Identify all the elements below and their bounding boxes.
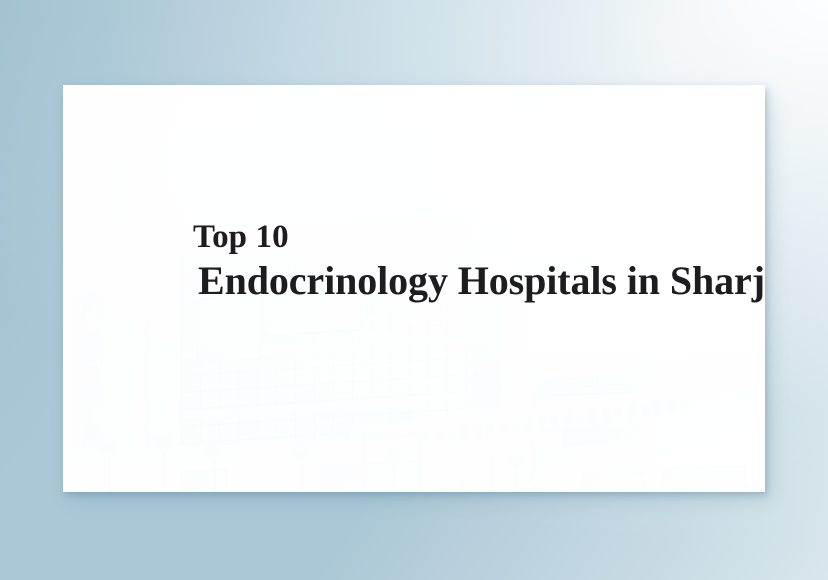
title-line-subject: Endocrinology Hospitals in Sharjah [191, 261, 751, 301]
slide-title: Top 10 Endocrinology Hospitals in Sharja… [191, 221, 751, 301]
slide-card[interactable]: Top 10 Endocrinology Hospitals in Sharja… [63, 85, 765, 492]
title-line-top10: Top 10 [191, 221, 751, 254]
